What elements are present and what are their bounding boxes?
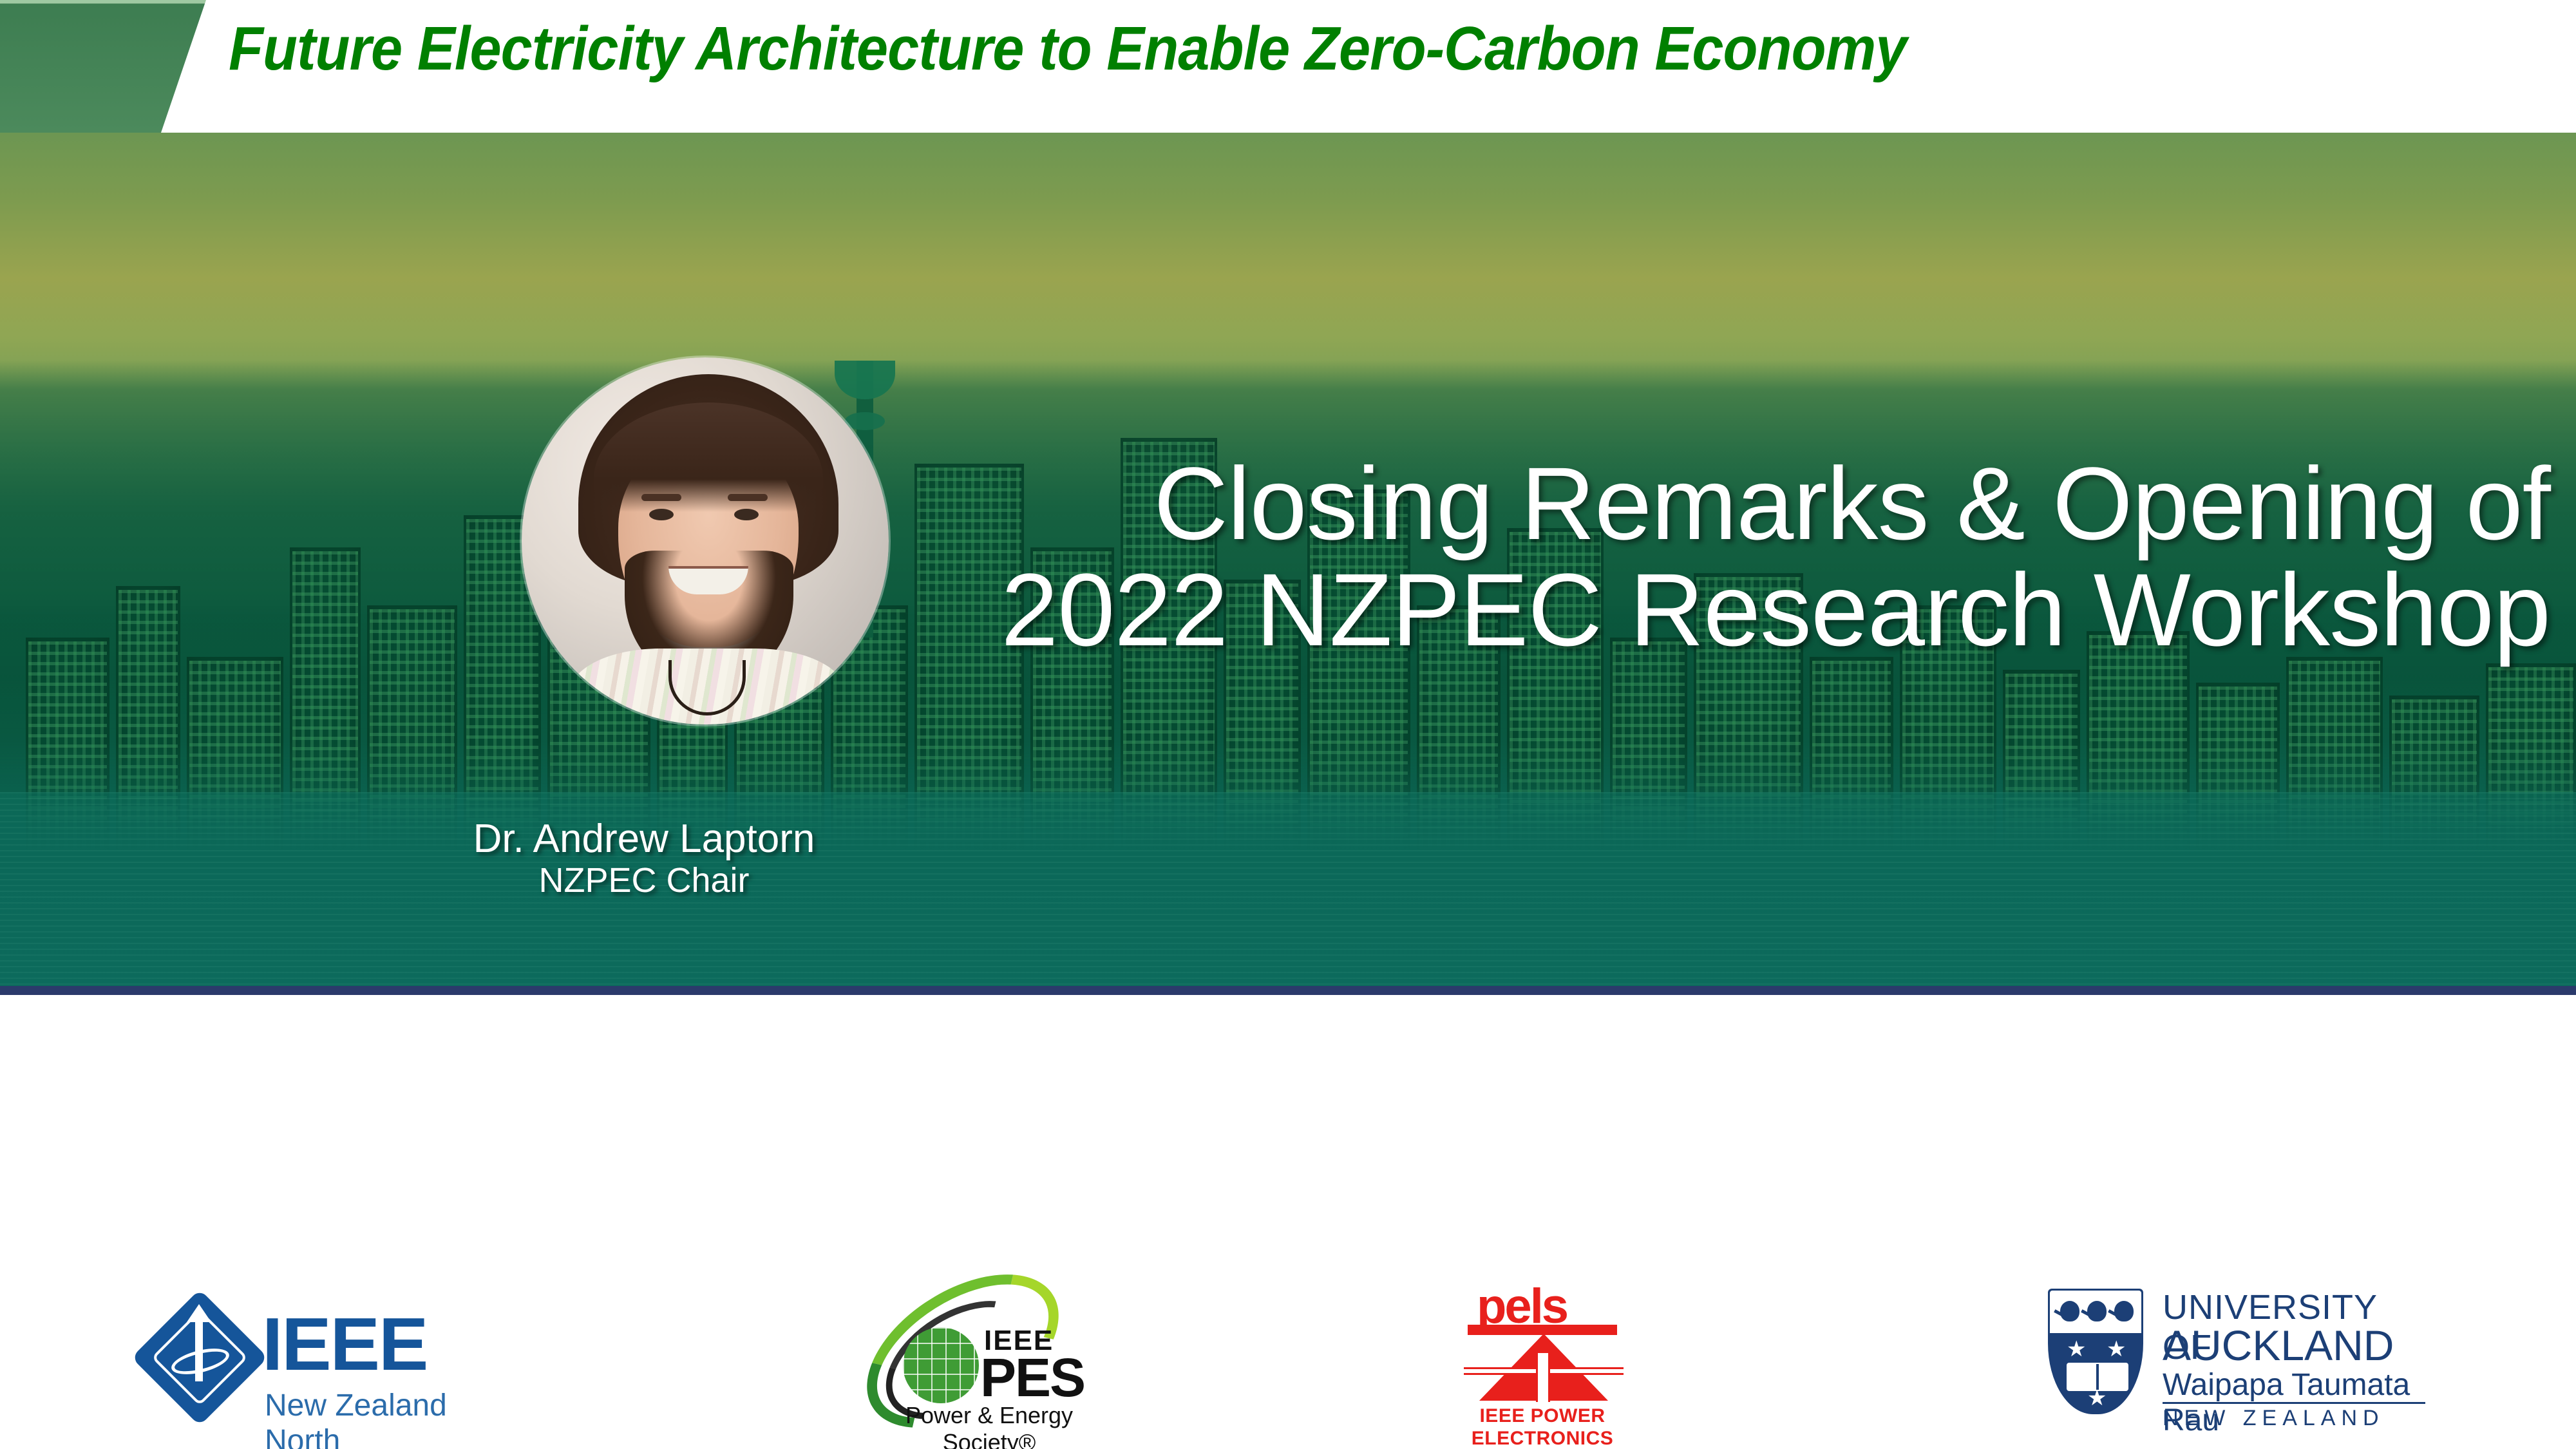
- uoa-divider: [2163, 1402, 2425, 1404]
- sponsor-logo-row: IEEE New Zealand North IEEE PES Power & …: [0, 1272, 2576, 1449]
- session-title: Closing Remarks & Opening of 2022 NZPEC …: [953, 451, 2550, 663]
- pels-subtitle-line2: ELECTRONICS SOCIETY: [1446, 1427, 1639, 1449]
- ieee-nz-north-logo: IEEE New Zealand North: [151, 1291, 486, 1420]
- pes-globe-icon: [903, 1327, 979, 1403]
- session-title-line1: Closing Remarks & Opening of: [1153, 446, 2550, 561]
- ieee-pels-logo: pels IEEE POWER ELECTRONICS SOCIETY: [1446, 1278, 1639, 1446]
- pes-subtitle: Power & Energy Society®: [860, 1402, 1118, 1449]
- pels-mast-icon: [1536, 1353, 1550, 1402]
- ieee-wordmark: IEEE: [262, 1307, 427, 1381]
- banner-bottom-rule: [0, 986, 2576, 995]
- university-of-auckland-logo: ★★★ UNIVERSITY OF AUCKLAND Waipapa Tauma…: [2048, 1286, 2434, 1425]
- pels-subtitle-line1: IEEE POWER: [1446, 1405, 1639, 1427]
- pes-wordmark: PES: [980, 1347, 1084, 1409]
- uoa-line-2: AUCKLAND: [2163, 1321, 2394, 1370]
- session-title-line2: 2022 NZPEC Research Workshop: [953, 557, 2550, 663]
- harbour-water: [0, 792, 2576, 995]
- page-title: Future Electricity Architecture to Enabl…: [229, 10, 2243, 88]
- pels-subtitle: IEEE POWER ELECTRONICS SOCIETY: [1446, 1405, 1639, 1449]
- uoa-shield-icon: ★★★: [2048, 1289, 2143, 1414]
- slide-canvas: Closing Remarks & Opening of 2022 NZPEC …: [0, 0, 2576, 1449]
- title-plate: Future Electricity Architecture to Enabl…: [0, 0, 2576, 133]
- info-row: GRID 2022 In association with: [0, 995, 2576, 1265]
- uoa-line-4: NEW ZEALAND: [2163, 1406, 2385, 1431]
- speaker-role: NZPEC Chair: [399, 861, 889, 901]
- speaker-name: Dr. Andrew Laptorn: [399, 817, 889, 861]
- ieee-arrow-icon: [195, 1320, 203, 1381]
- ieee-chapter-name: New Zealand North: [265, 1388, 486, 1449]
- hero-banner: Closing Remarks & Opening of 2022 NZPEC …: [0, 0, 2576, 995]
- speaker-block: Dr. Andrew Laptorn NZPEC Chair: [399, 817, 889, 901]
- speaker-avatar: [522, 357, 889, 724]
- ieee-pes-logo: IEEE PES Power & Energy Society®: [857, 1285, 1114, 1436]
